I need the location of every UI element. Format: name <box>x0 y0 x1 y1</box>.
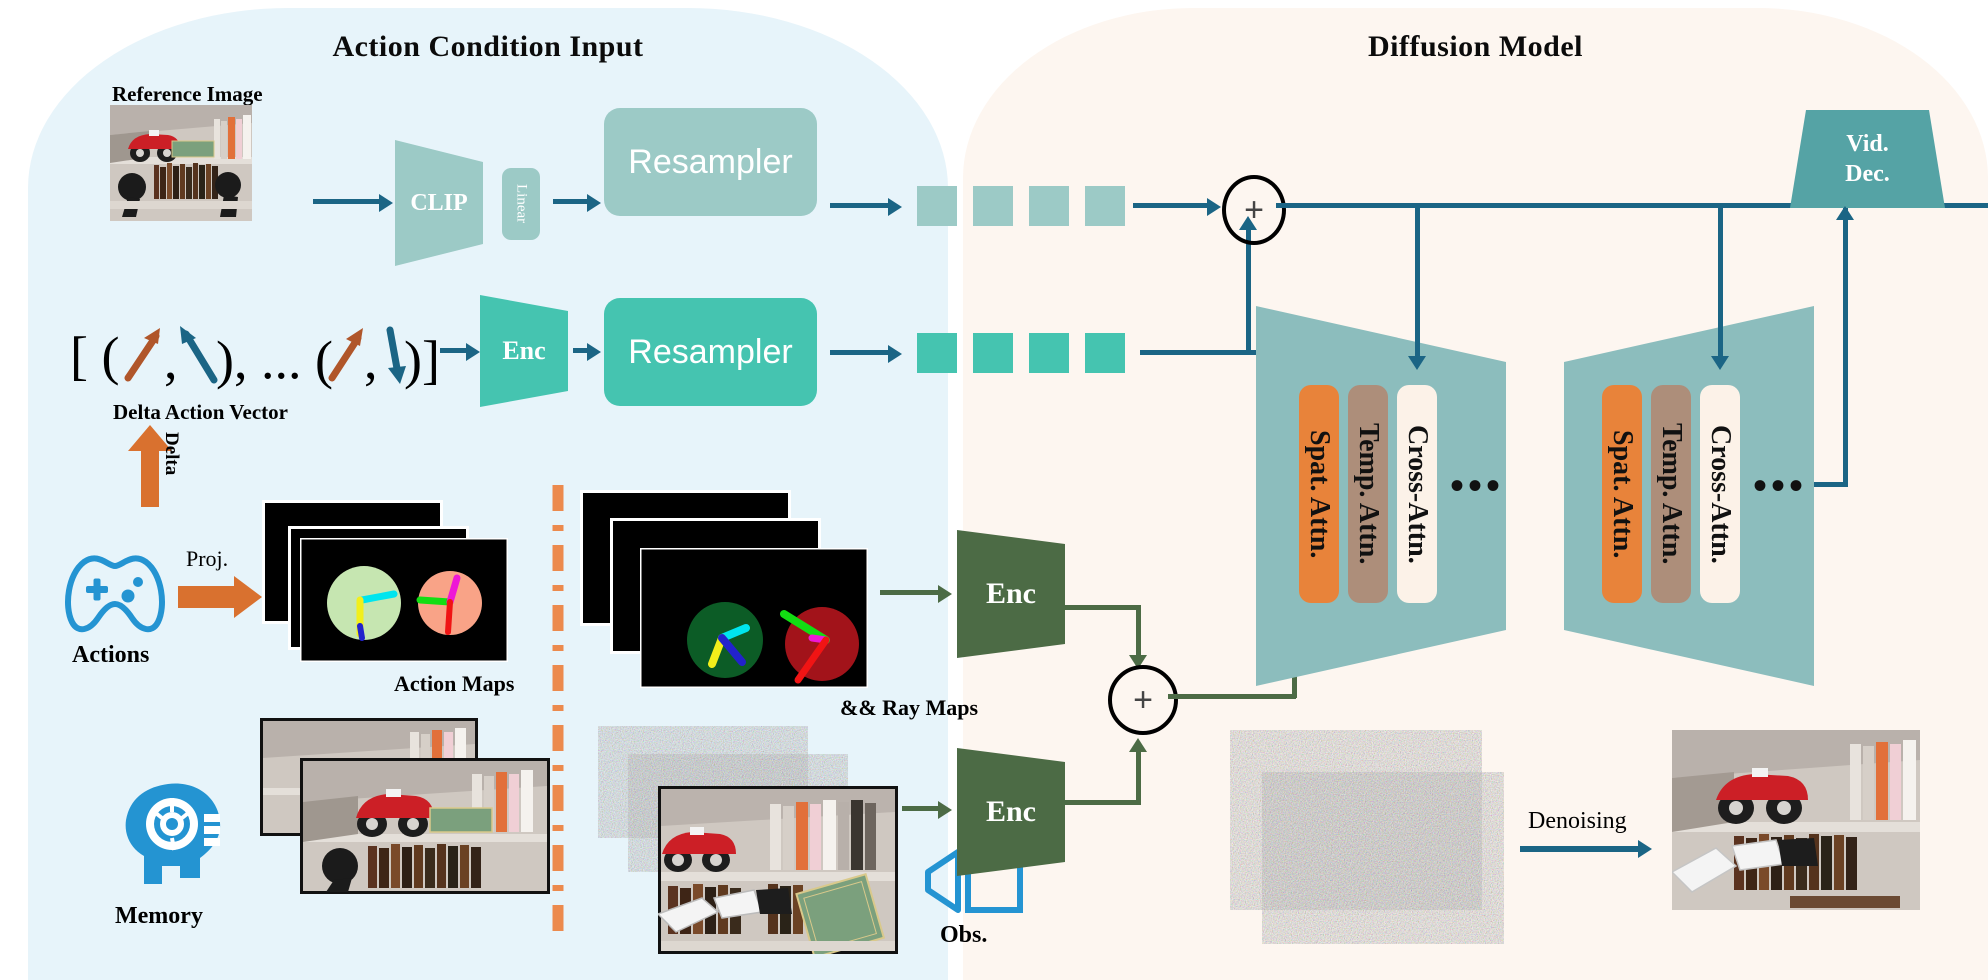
vid-dec-line-1: Vid. <box>1846 129 1888 159</box>
svg-text:[ (: [ ( <box>70 326 119 386</box>
panel-title-left: Action Condition Input <box>28 30 948 64</box>
token-bottom-4 <box>1085 333 1125 373</box>
linear-label: Linear <box>513 184 530 223</box>
section-divider <box>550 485 566 945</box>
svg-text:), ... (: ), ... ( <box>216 330 333 390</box>
arrow-head-obs-to-enc <box>938 801 952 819</box>
enc-action-label: Enc <box>480 295 568 407</box>
delta-action-vector-svg: [ ( , ), ... ( , )] <box>68 312 438 398</box>
arrow-line-denoising <box>1520 846 1638 852</box>
plus-symbol-top: + <box>1244 191 1264 230</box>
obs-label: Obs. <box>940 922 987 949</box>
reference-image-svg <box>110 105 252 221</box>
arrow-line-resampler-to-tokens <box>830 203 888 208</box>
arrow-head-resampler-to-tokens <box>888 198 902 216</box>
unet-2-temp-attn-label: Temp. Attn. <box>1655 423 1687 564</box>
arrow-line-raymaps-to-enc <box>880 590 938 595</box>
arrow-head-vector-to-enc <box>466 343 480 361</box>
conn-encobs-right <box>1065 800 1141 805</box>
clip-label: CLIP <box>395 140 483 266</box>
conn-sum-to-unet-h <box>1168 694 1296 699</box>
unet-1-spat-attn[interactable]: Spat. Attn. <box>1299 385 1339 603</box>
arrow-head-encobs-to-sum <box>1129 738 1147 752</box>
token-top-4 <box>1085 186 1125 226</box>
unet-2-cross-attn-label: Cross-Attn. <box>1704 425 1736 564</box>
cond-branch-2 <box>1718 203 1723 358</box>
arrow-head-enc-to-resampler <box>587 343 601 361</box>
actions-label: Actions <box>72 642 149 669</box>
arrow-line-ref-to-clip <box>313 199 379 204</box>
unet-1-temp-attn[interactable]: Temp. Attn. <box>1348 385 1388 603</box>
svg-text:,: , <box>364 330 378 390</box>
arrow-head-ref-to-clip <box>379 194 393 212</box>
token-bottom-3 <box>1029 333 1069 373</box>
unet-1-temp-attn-label: Temp. Attn. <box>1352 423 1384 564</box>
linear-label-wrap: Linear <box>502 168 540 240</box>
arrow-head-cond-to-unet1 <box>1408 356 1426 370</box>
arrow-line-linear-to-resampler <box>553 199 587 204</box>
arrow-head-denoising <box>1638 840 1652 858</box>
arrow-head-linear-to-resampler <box>587 194 601 212</box>
delta-action-vector-label: Delta Action Vector <box>113 400 288 425</box>
memory-label: Memory <box>115 903 203 930</box>
svg-text:)]: )] <box>404 330 438 390</box>
reference-image-label: Reference Image <box>112 82 263 107</box>
denoising-label: Denoising <box>1528 808 1627 835</box>
arrow-line-vector-to-enc <box>440 348 466 353</box>
unet-1-cross-attn-label: Cross-Attn. <box>1401 425 1433 564</box>
gamepad-icon <box>60 552 170 634</box>
conn-encobs-up <box>1136 752 1141 804</box>
observation-frame-front <box>658 786 898 954</box>
conn-tokens1-to-plus <box>1133 203 1207 208</box>
unet-2-temp-attn[interactable]: Temp. Attn. <box>1651 385 1691 603</box>
token-top-2 <box>973 186 1013 226</box>
unet-2-spat-attn[interactable]: Spat. Attn. <box>1602 385 1642 603</box>
conn-encmaps-down <box>1136 605 1141 657</box>
reference-image-thumbnail <box>110 105 252 221</box>
conn-tokens2-up <box>1246 230 1251 354</box>
delta-action-vector-expression: [ ( , ), ... ( , )] <box>68 312 438 408</box>
arrow-line-enc-to-resampler <box>573 348 587 353</box>
memory-brain-icon <box>122 780 228 886</box>
unet-1-ellipsis: ••• <box>1450 462 1504 509</box>
arrow-head-to-viddec <box>1836 206 1854 220</box>
arrow-head-cond-to-unet2 <box>1711 356 1729 370</box>
panel-title-right: Diffusion Model <box>963 30 1988 64</box>
arrow-head-resampler2-to-tokens <box>888 345 902 363</box>
unet-1-spat-attn-label: Spat. Attn. <box>1303 430 1335 558</box>
action-map-frame-front <box>300 538 508 662</box>
proj-arrow-icon <box>178 576 262 618</box>
vid-dec-line-2: Dec. <box>1845 159 1890 189</box>
conn-tokens2-right <box>1140 350 1256 355</box>
svg-text:,: , <box>164 330 178 390</box>
ray-map-frame-front <box>640 548 868 688</box>
delta-arrow-label-wrap: Delta <box>160 432 182 480</box>
enc-obs-label: Enc <box>957 748 1065 876</box>
token-bottom-1 <box>917 333 957 373</box>
conn-encmaps-right <box>1065 605 1141 610</box>
conn-unet-out <box>1814 482 1848 487</box>
enc-maps-label: Enc <box>957 530 1065 658</box>
cond-branch-1 <box>1415 203 1420 358</box>
unet-1-cross-attn[interactable]: Cross-Attn. <box>1397 385 1437 603</box>
token-top-1 <box>917 186 957 226</box>
noisy-output-frame-front <box>1262 772 1504 944</box>
sum-node-latents: + <box>1108 665 1178 735</box>
arrow-line-resampler2-to-tokens <box>830 350 888 355</box>
plus-symbol-bottom: + <box>1133 681 1153 720</box>
unet-2-cross-attn[interactable]: Cross-Attn. <box>1700 385 1740 603</box>
memory-frame-front <box>300 758 550 894</box>
arrow-line-obs-to-enc <box>902 806 938 811</box>
token-top-3 <box>1029 186 1069 226</box>
denoised-output-frame <box>1672 730 1920 910</box>
video-decoder-labels: Vid. Dec. <box>1790 110 1945 208</box>
token-bottom-2 <box>973 333 1013 373</box>
proj-label: Proj. <box>186 546 228 572</box>
unet-2-spat-attn-label: Spat. Attn. <box>1606 430 1638 558</box>
sum-node-conditions: + <box>1222 175 1286 245</box>
resampler-top-label: Resampler <box>604 108 817 216</box>
arrow-head-tokens1-to-plus <box>1207 198 1221 216</box>
ray-maps-label: && Ray Maps <box>840 695 978 721</box>
action-maps-label: Action Maps <box>394 671 514 697</box>
conn-unet-to-viddec-v <box>1843 203 1848 485</box>
delta-label: Delta <box>160 432 182 475</box>
arrow-head-raymaps-to-enc <box>938 585 952 603</box>
unet-2-ellipsis: ••• <box>1753 462 1807 509</box>
resampler-bottom-label: Resampler <box>604 298 817 406</box>
